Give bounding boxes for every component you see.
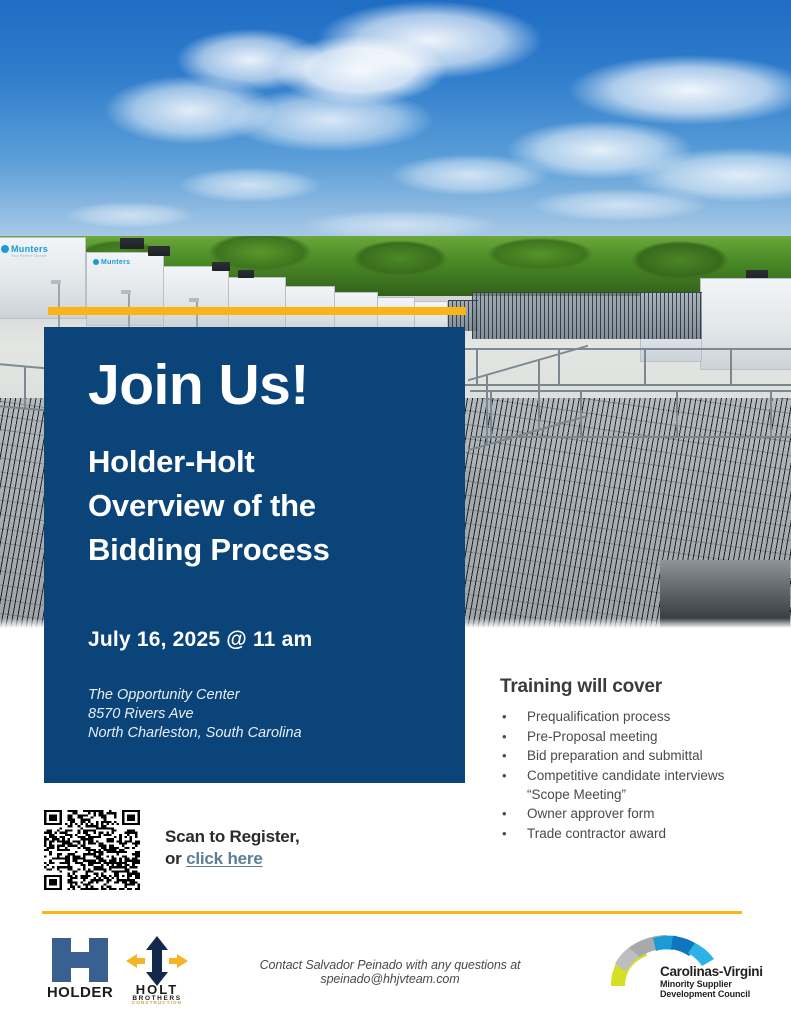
holder-logo: HOLDER xyxy=(48,934,116,1002)
event-datetime: July 16, 2025 @ 11 am xyxy=(88,628,445,652)
rooftop-fan-2 xyxy=(148,246,170,256)
rooftop-fan-4 xyxy=(238,270,254,278)
list-item: • Prequalification process xyxy=(500,708,772,727)
list-item: • Competitive candidate interviews “Scop… xyxy=(500,767,772,804)
cvmsdc-logo: Carolinas-Virginia Minority Supplier Dev… xyxy=(603,932,763,1004)
list-item-label: Pre-Proposal meeting xyxy=(527,729,658,744)
training-heading: Training will cover xyxy=(500,676,772,698)
rooftop-fan-3 xyxy=(212,262,230,271)
contact-info: Contact Salvador Peinado with any questi… xyxy=(190,958,590,986)
bullet-icon: • xyxy=(502,708,507,726)
click-here-link[interactable]: click here xyxy=(186,849,262,868)
council-name-line1: Carolinas-Virginia xyxy=(660,964,763,979)
holt-wordmark-line3: CONSTRUCTION xyxy=(132,1000,182,1004)
council-name-line3: Development Council xyxy=(660,989,750,999)
holt-brothers-logo-icon: HOLT BROTHERS CONSTRUCTION xyxy=(118,932,196,1004)
subtitle-line-2: Overview of the xyxy=(88,484,445,528)
blue-info-panel: Join Us! Holder-Holt Overview of the Bid… xyxy=(44,327,465,783)
list-item-label: Trade contractor award xyxy=(527,826,666,841)
register-callout: Scan to Register, or click here xyxy=(165,826,375,870)
footer-divider xyxy=(42,911,742,914)
click-here-line: or click here xyxy=(165,848,375,870)
list-item-label: Competitive candidate interviews xyxy=(527,768,724,783)
list-item-label: Bid preparation and submittal xyxy=(527,748,703,763)
qr-code[interactable] xyxy=(44,810,140,890)
sky-with-clouds xyxy=(0,0,791,258)
flyer-page: Munters Your Perfect Climate Munters xyxy=(0,0,791,1024)
list-item: • Pre-Proposal meeting xyxy=(500,728,772,747)
cvmsdc-logo-icon: Carolinas-Virginia Minority Supplier Dev… xyxy=(603,932,763,1004)
bullet-icon: • xyxy=(502,767,507,785)
list-item: • Owner approver form xyxy=(500,805,772,824)
list-item: • Bid preparation and submittal xyxy=(500,747,772,766)
training-section: Training will cover • Prequalification p… xyxy=(500,676,772,844)
bullet-icon: • xyxy=(502,805,507,823)
rooftop-fan-1 xyxy=(120,238,144,249)
munters-tagline-1: Your Perfect Climate xyxy=(11,254,47,258)
scan-to-register-label: Scan to Register, xyxy=(165,826,375,848)
holt-brothers-logo: HOLT BROTHERS CONSTRUCTION xyxy=(118,932,196,1004)
munters-unit-4 xyxy=(228,277,286,331)
list-item-sublabel: “Scope Meeting” xyxy=(527,786,772,805)
munters-logo-2: Munters xyxy=(93,259,130,266)
holder-wordmark: HOLDER xyxy=(48,984,113,1001)
panel-content: Join Us! Holder-Holt Overview of the Bid… xyxy=(88,357,445,743)
light-pole-1 xyxy=(58,282,60,328)
or-prefix: or xyxy=(165,849,186,868)
council-name-line2: Minority Supplier xyxy=(660,979,732,989)
bullet-icon: • xyxy=(502,747,507,765)
venue-line-2: 8570 Rivers Ave xyxy=(88,705,445,724)
venue-line-3: North Charleston, South Carolina xyxy=(88,724,445,743)
bullet-icon: • xyxy=(502,728,507,746)
munters-logo-1: Munters xyxy=(1,244,48,254)
page-title: Join Us! xyxy=(88,357,445,414)
perimeter-fence xyxy=(472,292,702,339)
subtitle-line-3: Bidding Process xyxy=(88,528,445,572)
list-item: • Trade contractor award xyxy=(500,825,772,844)
bullet-icon: • xyxy=(502,825,507,843)
list-item-label: Prequalification process xyxy=(527,709,670,724)
venue-line-1: The Opportunity Center xyxy=(88,686,445,705)
list-item-label: Owner approver form xyxy=(527,806,655,821)
accent-bar-top xyxy=(48,307,466,315)
qr-code-image[interactable] xyxy=(44,810,140,890)
event-venue: The Opportunity Center 8570 Rivers Ave N… xyxy=(88,686,445,743)
subtitle-line-1: Holder-Holt xyxy=(88,440,445,484)
event-subtitle: Holder-Holt Overview of the Bidding Proc… xyxy=(88,440,445,572)
holder-logo-icon: HOLDER xyxy=(48,934,116,1002)
training-topic-list: • Prequalification process • Pre-Proposa… xyxy=(500,708,772,843)
